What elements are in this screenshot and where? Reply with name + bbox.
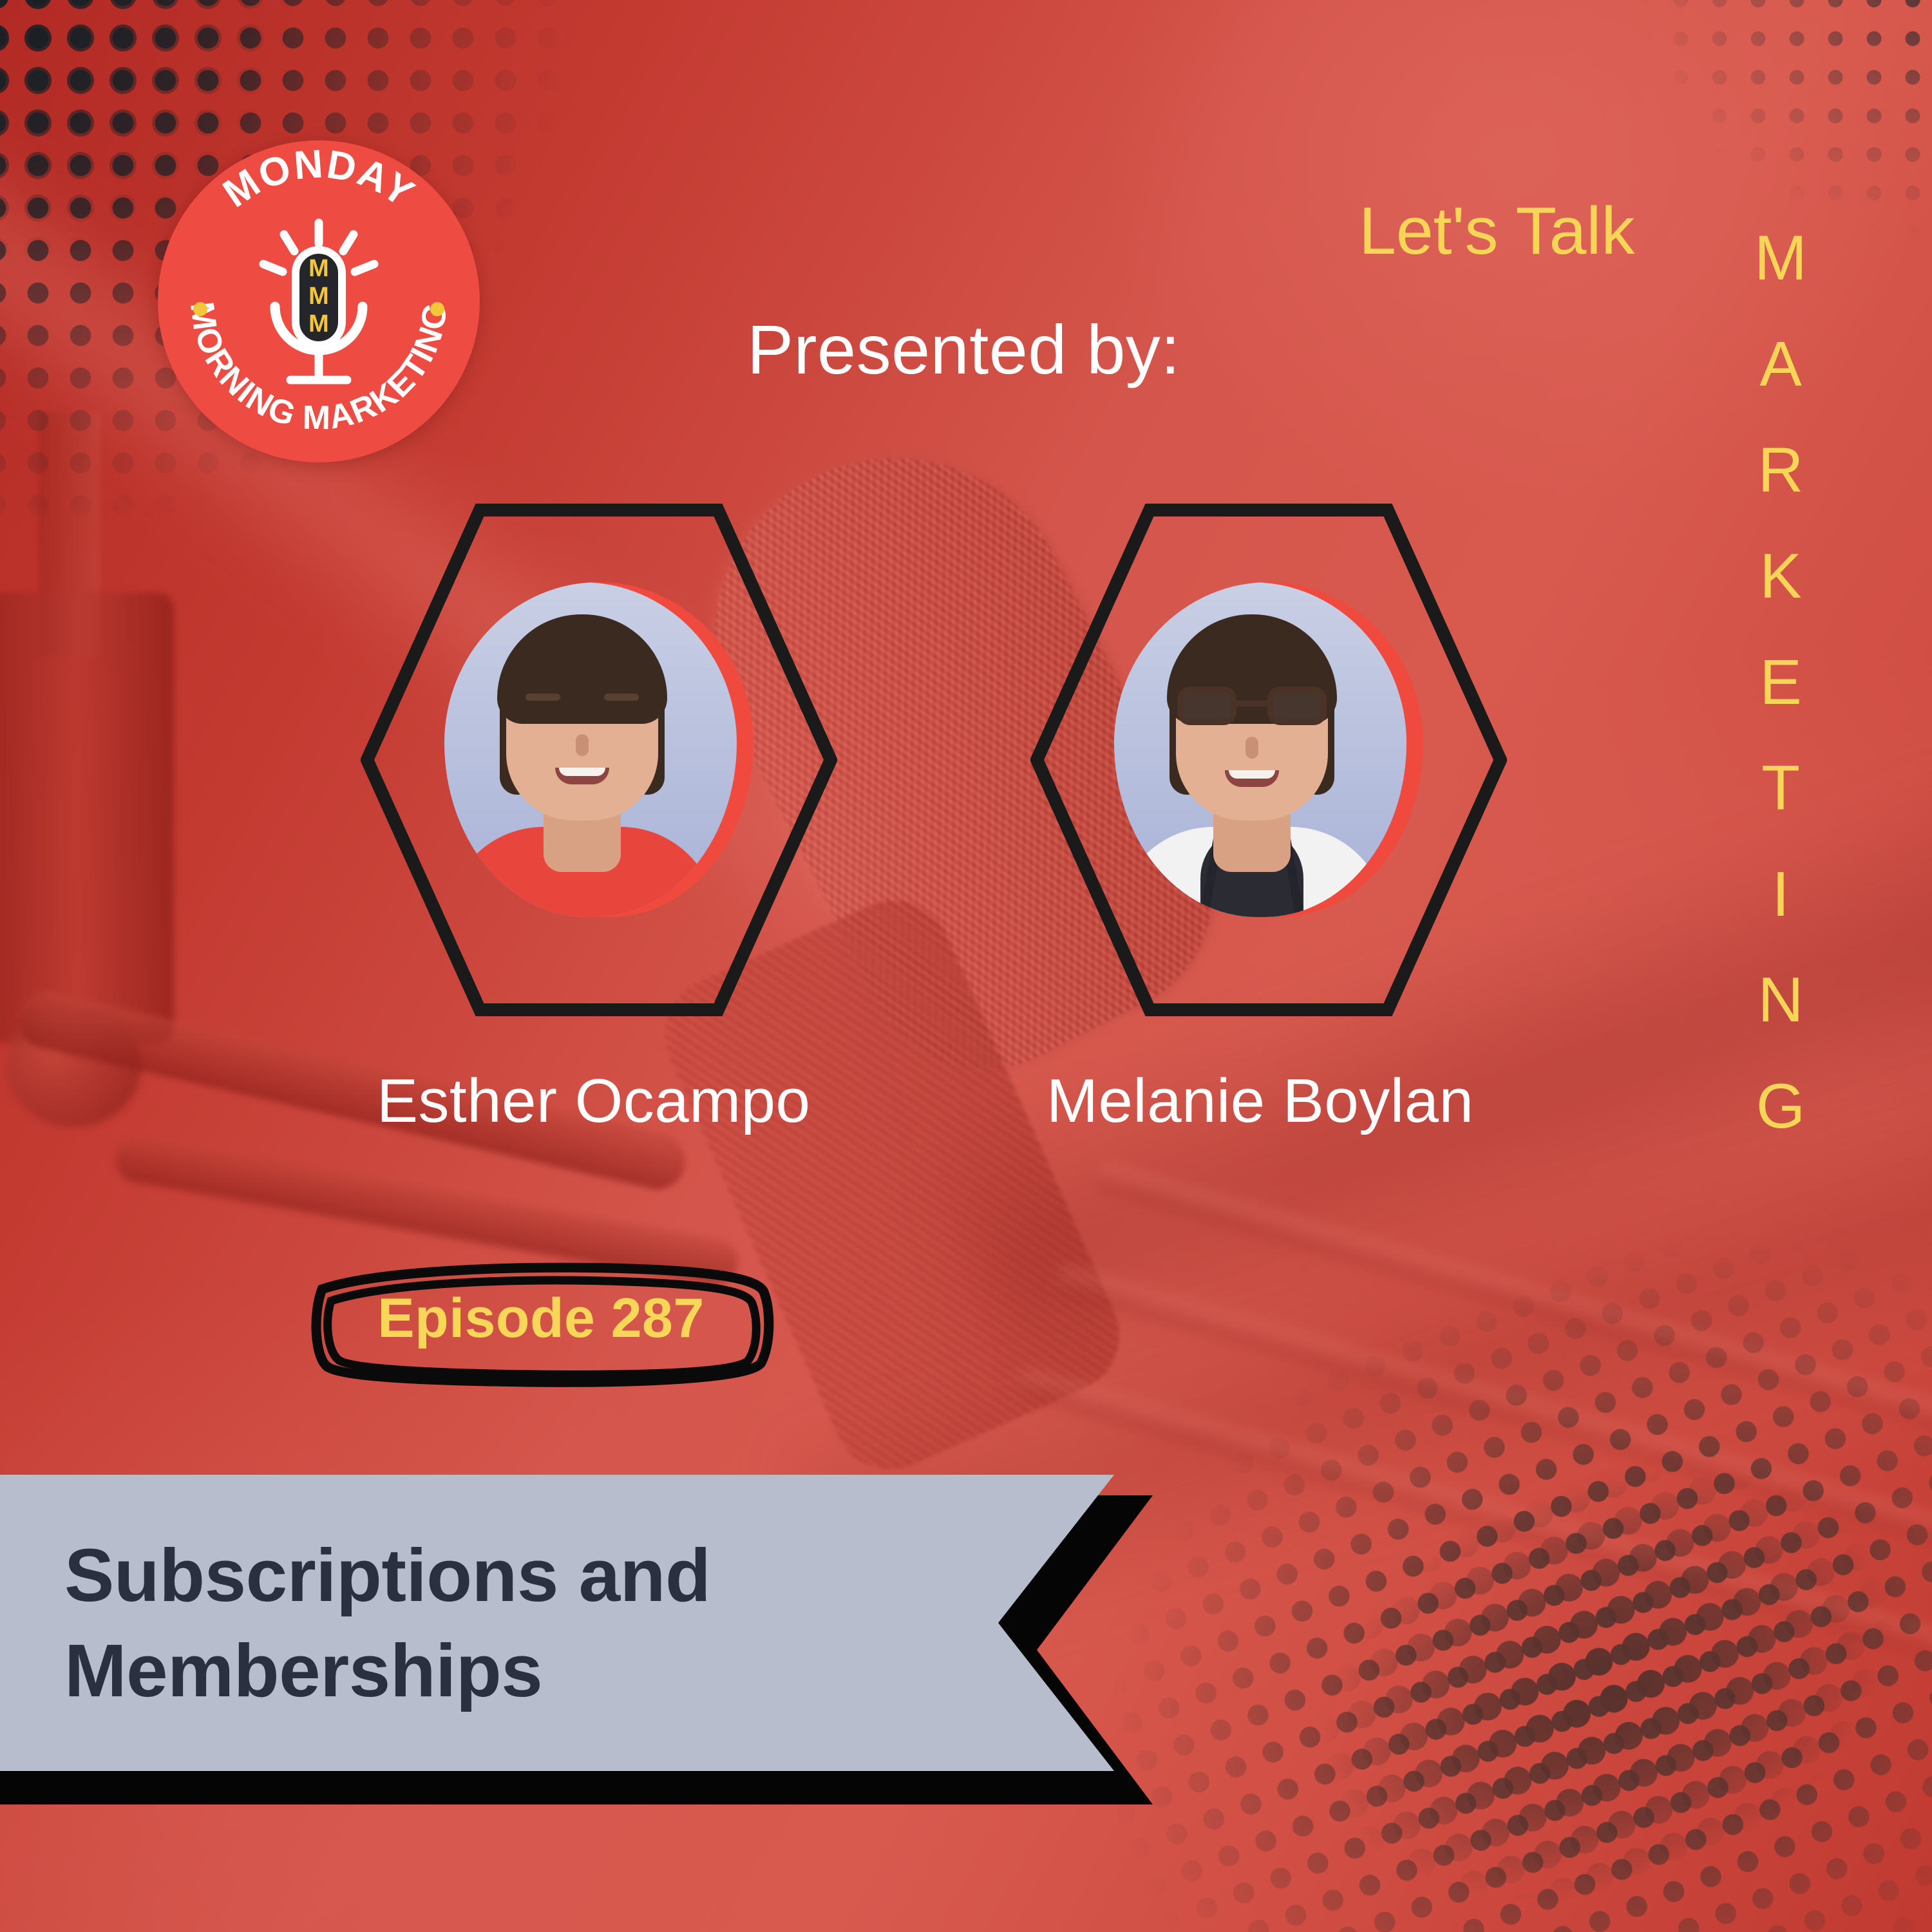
- vertical-letter-m1: M: [1754, 205, 1807, 311]
- vertical-letter-e: E: [1759, 629, 1801, 735]
- vertical-letter-g: G: [1756, 1053, 1805, 1159]
- mic-letter-1: M: [308, 255, 329, 282]
- banner-title-line-1: Subscriptions and: [64, 1528, 1166, 1623]
- speaker-hexagon-left: [361, 496, 837, 1024]
- monday-morning-marketing-logo[interactable]: MONDAY MORNING MARKETING M M M: [158, 140, 480, 462]
- vertical-marketing-word: M A R K E T I N G: [1732, 205, 1829, 1159]
- vertical-letter-t: T: [1761, 735, 1800, 841]
- logo-dot-left: [193, 302, 207, 316]
- presented-by-label: Presented by:: [747, 309, 1180, 390]
- episode-title-banner: Subscriptions and Memberships: [0, 1475, 1166, 1771]
- mic-letter-2: M: [308, 283, 329, 310]
- speaker-name-right: Melanie Boylan: [1046, 1066, 1473, 1137]
- halftone-dots-top-right: [1468, 0, 1932, 380]
- vertical-letter-a: A: [1759, 311, 1801, 417]
- hexagon-outline-right: [1037, 510, 1501, 1010]
- vertical-letter-k: K: [1759, 523, 1801, 629]
- podcast-cover-poster: MONDAY MORNING MARKETING M M M: [0, 0, 1932, 1932]
- episode-badge[interactable]: Episode 287: [296, 1249, 786, 1391]
- logo-arc-top-text: MONDAY: [215, 142, 422, 216]
- vertical-letter-i: I: [1772, 841, 1789, 947]
- logo-dot-right: [430, 302, 444, 316]
- episode-badge-label: Episode 287: [296, 1287, 786, 1350]
- speaker-name-left: Esther Ocampo: [377, 1066, 810, 1137]
- banner-title-line-2: Memberships: [64, 1623, 1166, 1718]
- mic-letter-3: M: [308, 310, 329, 337]
- hexagon-outline-left: [367, 510, 831, 1010]
- lets-talk-tagline: Let's Talk: [1359, 193, 1634, 270]
- vertical-letter-n: N: [1758, 947, 1804, 1053]
- speaker-hexagon-right: [1030, 496, 1507, 1024]
- vertical-letter-r: R: [1758, 417, 1804, 523]
